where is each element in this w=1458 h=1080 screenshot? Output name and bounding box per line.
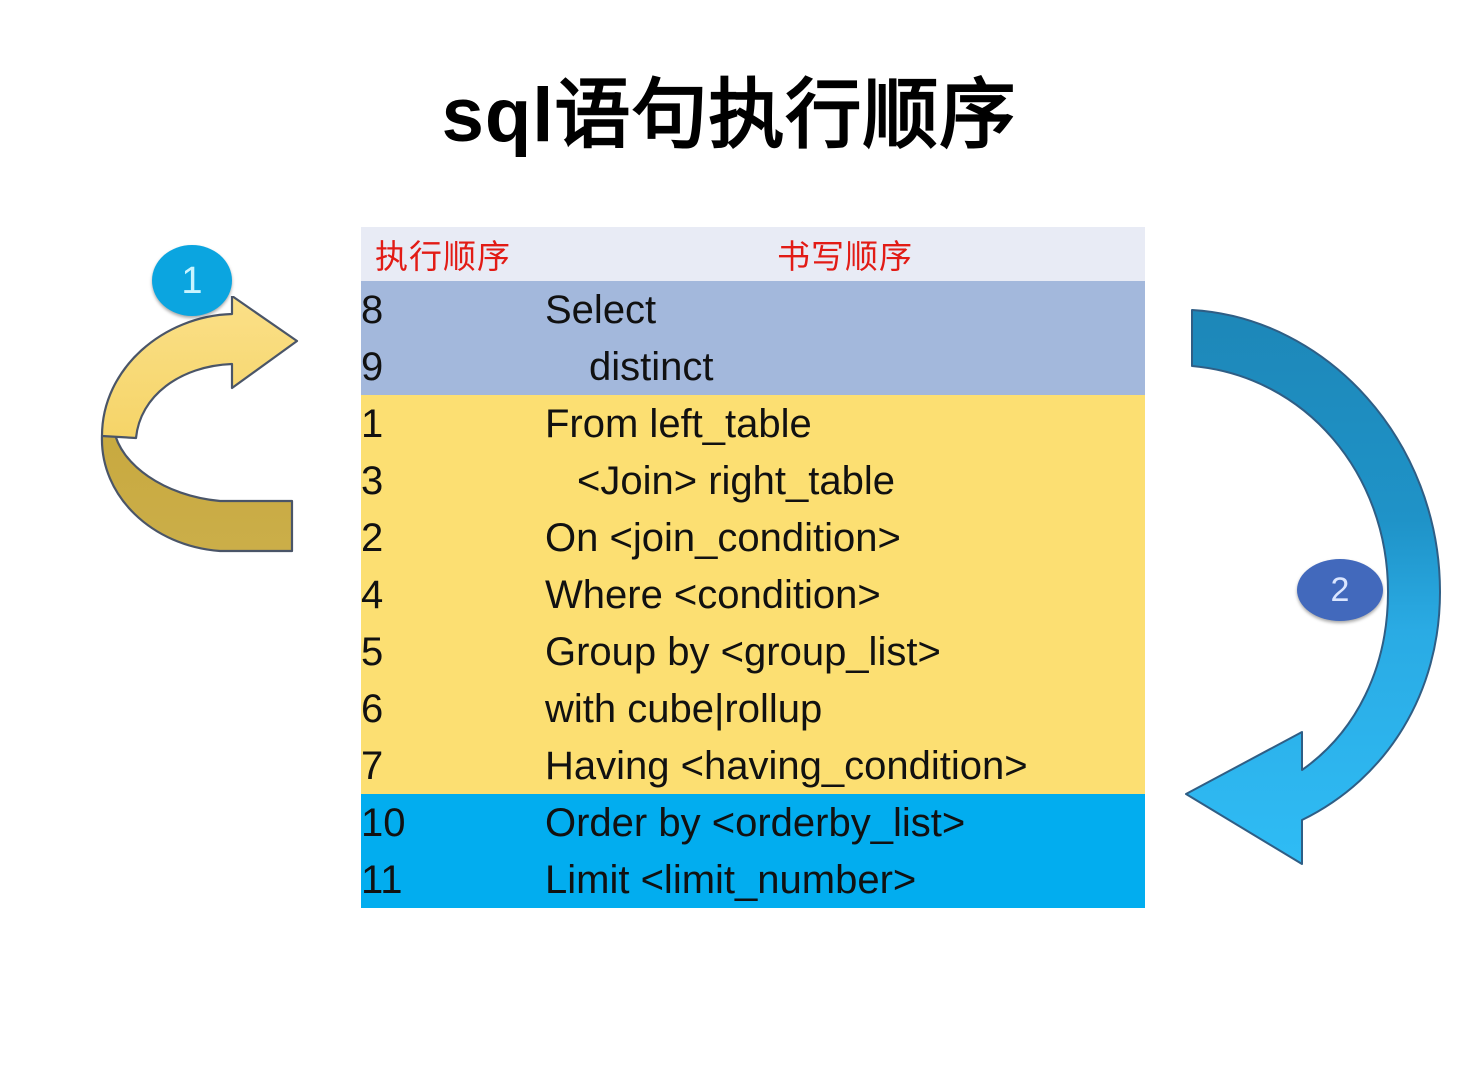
cell-sql-clause: Having <having_condition>: [545, 737, 1145, 794]
table-row: 2On <join_condition>: [361, 509, 1145, 566]
cell-execution-order: 7: [361, 737, 545, 794]
cell-execution-order: 9: [361, 338, 545, 395]
cell-sql-clause: From left_table: [545, 395, 1145, 452]
cell-execution-order: 1: [361, 395, 545, 452]
table-row: 5Group by <group_list>: [361, 623, 1145, 680]
page-title: sql语句执行顺序: [0, 78, 1458, 154]
cell-execution-order: 11: [361, 851, 545, 908]
step-badge-1: 1: [152, 245, 232, 316]
cell-sql-clause: <Join> right_table: [545, 452, 1145, 509]
table-row: 6with cube|rollup: [361, 680, 1145, 737]
step-badge-2: 2: [1297, 559, 1383, 621]
table-row: 10Order by <orderby_list>: [361, 794, 1145, 851]
cell-sql-clause: Where <condition>: [545, 566, 1145, 623]
cell-execution-order: 4: [361, 566, 545, 623]
table-row: 7Having <having_condition>: [361, 737, 1145, 794]
sql-execution-order-table: 执行顺序 书写顺序 8Select9distinct1From left_tab…: [361, 227, 1145, 908]
circular-arrow-gold-icon: [92, 296, 312, 566]
table-row: 4Where <condition>: [361, 566, 1145, 623]
cell-execution-order: 5: [361, 623, 545, 680]
table-row: 9distinct: [361, 338, 1145, 395]
cell-sql-clause: Group by <group_list>: [545, 623, 1145, 680]
table-row: 11Limit <limit_number>: [361, 851, 1145, 908]
table-row: 1From left_table: [361, 395, 1145, 452]
cell-execution-order: 6: [361, 680, 545, 737]
table-body: 8Select9distinct1From left_table3<Join> …: [361, 281, 1145, 908]
cell-sql-clause: Limit <limit_number>: [545, 851, 1145, 908]
column-header-writing-order: 书写顺序: [545, 227, 1145, 281]
table-header-row: 执行顺序 书写顺序: [361, 227, 1145, 281]
cell-execution-order: 2: [361, 509, 545, 566]
cell-sql-clause: distinct: [545, 338, 1145, 395]
cell-sql-clause: On <join_condition>: [545, 509, 1145, 566]
cell-execution-order: 8: [361, 281, 545, 338]
cell-sql-clause: Order by <orderby_list>: [545, 794, 1145, 851]
table-row: 3<Join> right_table: [361, 452, 1145, 509]
cell-execution-order: 10: [361, 794, 545, 851]
cell-execution-order: 3: [361, 452, 545, 509]
table-row: 8Select: [361, 281, 1145, 338]
column-header-execution-order: 执行顺序: [361, 227, 545, 281]
cell-sql-clause: with cube|rollup: [545, 680, 1145, 737]
cell-sql-clause: Select: [545, 281, 1145, 338]
